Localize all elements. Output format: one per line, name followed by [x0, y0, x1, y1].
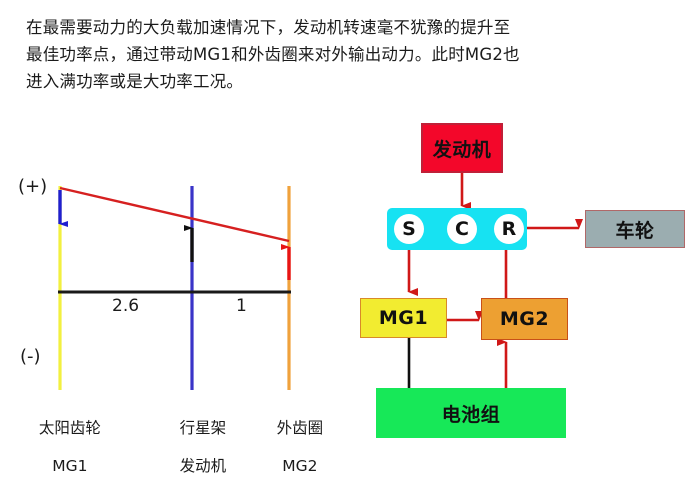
axis-caption-sun-gear-bottom: MG1: [52, 457, 87, 475]
description-line-1: 在最需要动力的大负载加速情况下，发动机转速毫不犹豫的提升至: [26, 14, 676, 41]
node-mg1[interactable]: MG1: [360, 298, 447, 338]
description-paragraph: 在最需要动力的大负载加速情况下，发动机转速毫不犹豫的提升至 最佳功率点，通过带动…: [26, 14, 676, 95]
node-ring-gear-label: R: [502, 218, 517, 240]
description-line-2: 最佳功率点，通过带动MG1和外齿圈来对外输出动力。此时MG2也: [26, 41, 676, 68]
node-ring-gear-circle[interactable]: R: [494, 214, 524, 244]
nomogram-chart: (+) (-) 2.6 1 太阳齿轮 MG1 行星架 发动机 外齿圈 MG2: [0, 150, 345, 442]
node-wheel[interactable]: 车轮: [585, 210, 685, 248]
axis-caption-sun-gear: 太阳齿轮 MG1: [10, 400, 110, 495]
speed-line: [60, 188, 289, 241]
node-carrier-label: C: [455, 218, 469, 240]
axis-caption-sun-gear-top: 太阳齿轮: [39, 419, 101, 437]
ratio-label-sun-carrier: 2.6: [112, 296, 139, 316]
description-line-3: 进入满功率或是大功率工况。: [26, 68, 676, 95]
node-wheel-label: 车轮: [615, 216, 654, 243]
node-battery-label: 电池组: [442, 400, 501, 427]
nomogram-svg: [0, 150, 345, 442]
node-mg2-label: MG2: [500, 308, 549, 330]
sign-negative-label: (-): [20, 346, 41, 367]
node-mg2[interactable]: MG2: [481, 298, 568, 340]
node-engine-label: 发动机: [433, 135, 492, 162]
axis-caption-carrier-bottom: 发动机: [180, 457, 227, 475]
node-battery[interactable]: 电池组: [376, 388, 566, 438]
node-sun-gear-circle[interactable]: S: [394, 214, 424, 244]
axis-caption-ring-gear: 外齿圈 MG2: [240, 400, 340, 495]
node-mg1-label: MG1: [379, 307, 428, 329]
axis-caption-ring-gear-top: 外齿圈: [277, 419, 324, 437]
axis-caption-carrier: 行星架 发动机: [143, 400, 243, 495]
powertrain-block-diagram: 发动机 S C R 车轮 MG1 MG2 电池组: [345, 110, 700, 442]
node-sun-gear-label: S: [402, 218, 416, 240]
node-carrier-circle[interactable]: C: [447, 214, 477, 244]
node-engine[interactable]: 发动机: [421, 123, 503, 173]
axis-caption-carrier-top: 行星架: [180, 419, 227, 437]
sign-positive-label: (+): [18, 176, 47, 197]
ratio-label-carrier-ring: 1: [236, 296, 247, 316]
axis-caption-ring-gear-bottom: MG2: [282, 457, 317, 475]
